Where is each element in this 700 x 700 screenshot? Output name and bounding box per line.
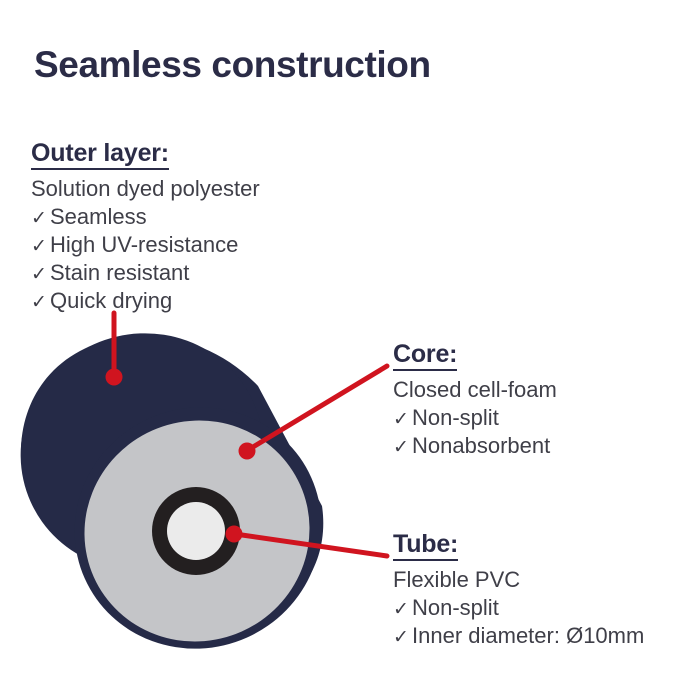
leader-dot-outer — [106, 369, 123, 386]
callout-core-heading: Core: — [393, 341, 457, 371]
check-icon: ✓ — [393, 408, 412, 432]
list-item-label: High UV-resistance — [50, 231, 238, 259]
list-item: ✓ Seamless — [31, 203, 260, 231]
callout-outer-layer: Outer layer: Solution dyed polyester ✓ S… — [31, 140, 260, 314]
callout-tube: Tube: Flexible PVC ✓ Non-split ✓ Inner d… — [393, 531, 644, 650]
list-item: ✓ Nonabsorbent — [393, 432, 557, 460]
leader-dot-core — [239, 443, 256, 460]
callout-outer-subtitle: Solution dyed polyester — [31, 175, 260, 203]
list-item-label: Inner diameter: Ø10mm — [412, 622, 644, 650]
callout-outer-list: ✓ Seamless ✓ High UV-resistance ✓ Stain … — [31, 203, 260, 315]
list-item: ✓ High UV-resistance — [31, 231, 260, 259]
leader-dot-tube — [226, 526, 243, 543]
tube-inner-bore — [167, 502, 225, 560]
check-icon: ✓ — [31, 263, 50, 287]
list-item-label: Quick drying — [50, 287, 172, 315]
list-item: ✓ Quick drying — [31, 287, 260, 315]
callout-core-subtitle: Closed cell-foam — [393, 376, 557, 404]
list-item-label: Non-split — [412, 404, 499, 432]
check-icon: ✓ — [393, 436, 412, 460]
list-item-label: Stain resistant — [50, 259, 189, 287]
list-item-label: Nonabsorbent — [412, 432, 550, 460]
callout-core-list: ✓ Non-split ✓ Nonabsorbent — [393, 404, 557, 460]
check-icon: ✓ — [393, 598, 412, 622]
callout-outer-heading: Outer layer: — [31, 140, 169, 170]
list-item: ✓ Non-split — [393, 594, 644, 622]
callout-tube-list: ✓ Non-split ✓ Inner diameter: Ø10mm — [393, 594, 644, 650]
check-icon: ✓ — [31, 207, 50, 231]
list-item: ✓ Non-split — [393, 404, 557, 432]
check-icon: ✓ — [31, 291, 50, 315]
list-item: ✓ Inner diameter: Ø10mm — [393, 622, 644, 650]
check-icon: ✓ — [393, 626, 412, 650]
list-item: ✓ Stain resistant — [31, 259, 260, 287]
poster-canvas: Seamless construction Outer — [0, 0, 700, 700]
check-icon: ✓ — [31, 235, 50, 259]
callout-core: Core: Closed cell-foam ✓ Non-split ✓ Non… — [393, 341, 557, 460]
callout-tube-subtitle: Flexible PVC — [393, 566, 644, 594]
callout-tube-heading: Tube: — [393, 531, 458, 561]
list-item-label: Non-split — [412, 594, 499, 622]
list-item-label: Seamless — [50, 203, 147, 231]
